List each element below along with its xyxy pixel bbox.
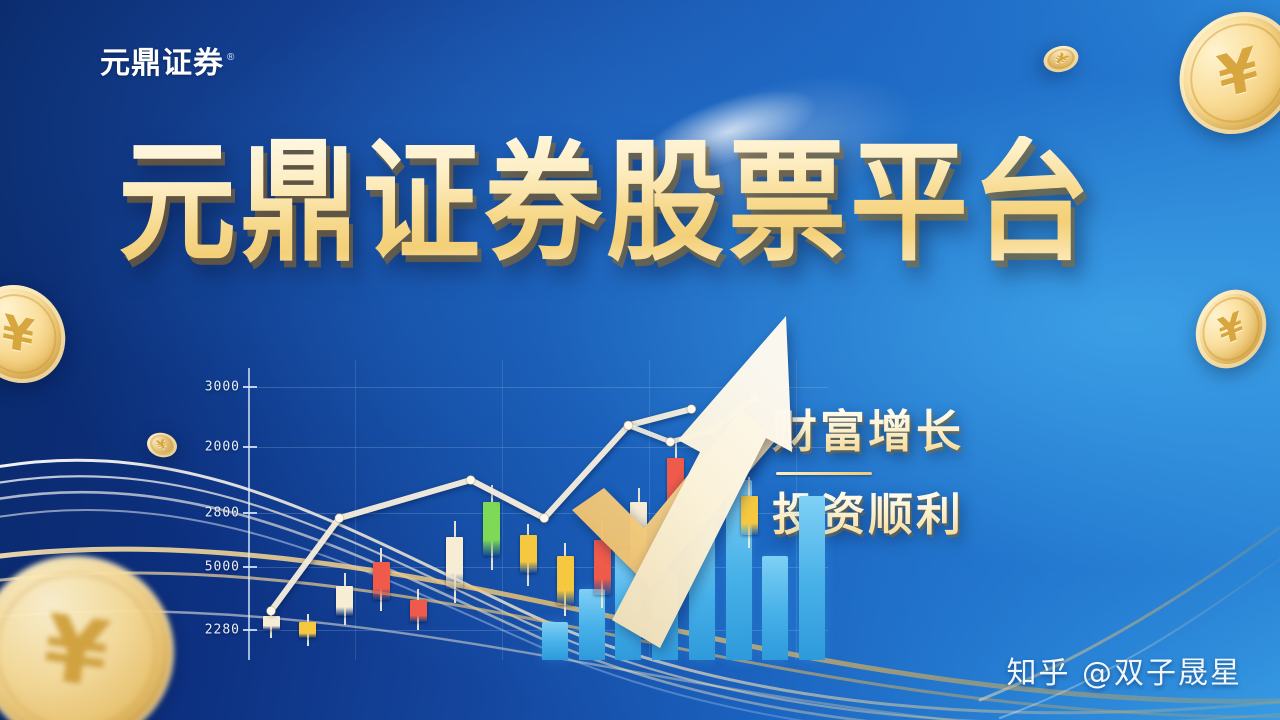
watermark: 知乎 @双子晟星 (1006, 648, 1242, 692)
banner-canvas: 元鼎证券 ® 元鼎证券股票平台 财富增长 投资顺利 30002000280050… (0, 0, 1280, 720)
gold-check-arrow (0, 0, 1280, 720)
